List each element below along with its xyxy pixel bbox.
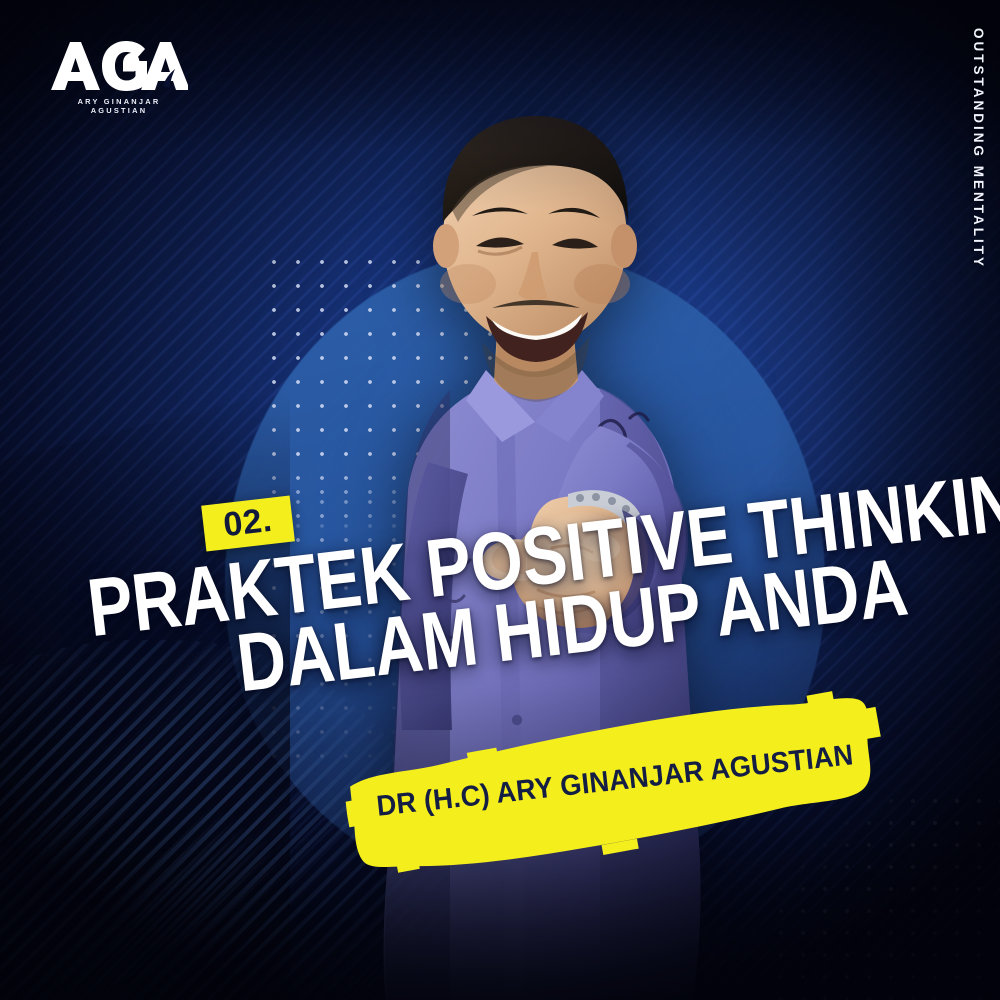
vertical-tagline: OUTSTANDING MENTALITY [971,28,986,269]
aga-monogram-icon [48,38,188,94]
promo-poster: ARY GINANJAR AGUSTIAN OUTSTANDING MENTAL… [0,0,1000,1000]
brand-logo[interactable]: ARY GINANJAR AGUSTIAN [48,38,198,115]
logo-subtitle: ARY GINANJAR AGUSTIAN [48,97,190,115]
